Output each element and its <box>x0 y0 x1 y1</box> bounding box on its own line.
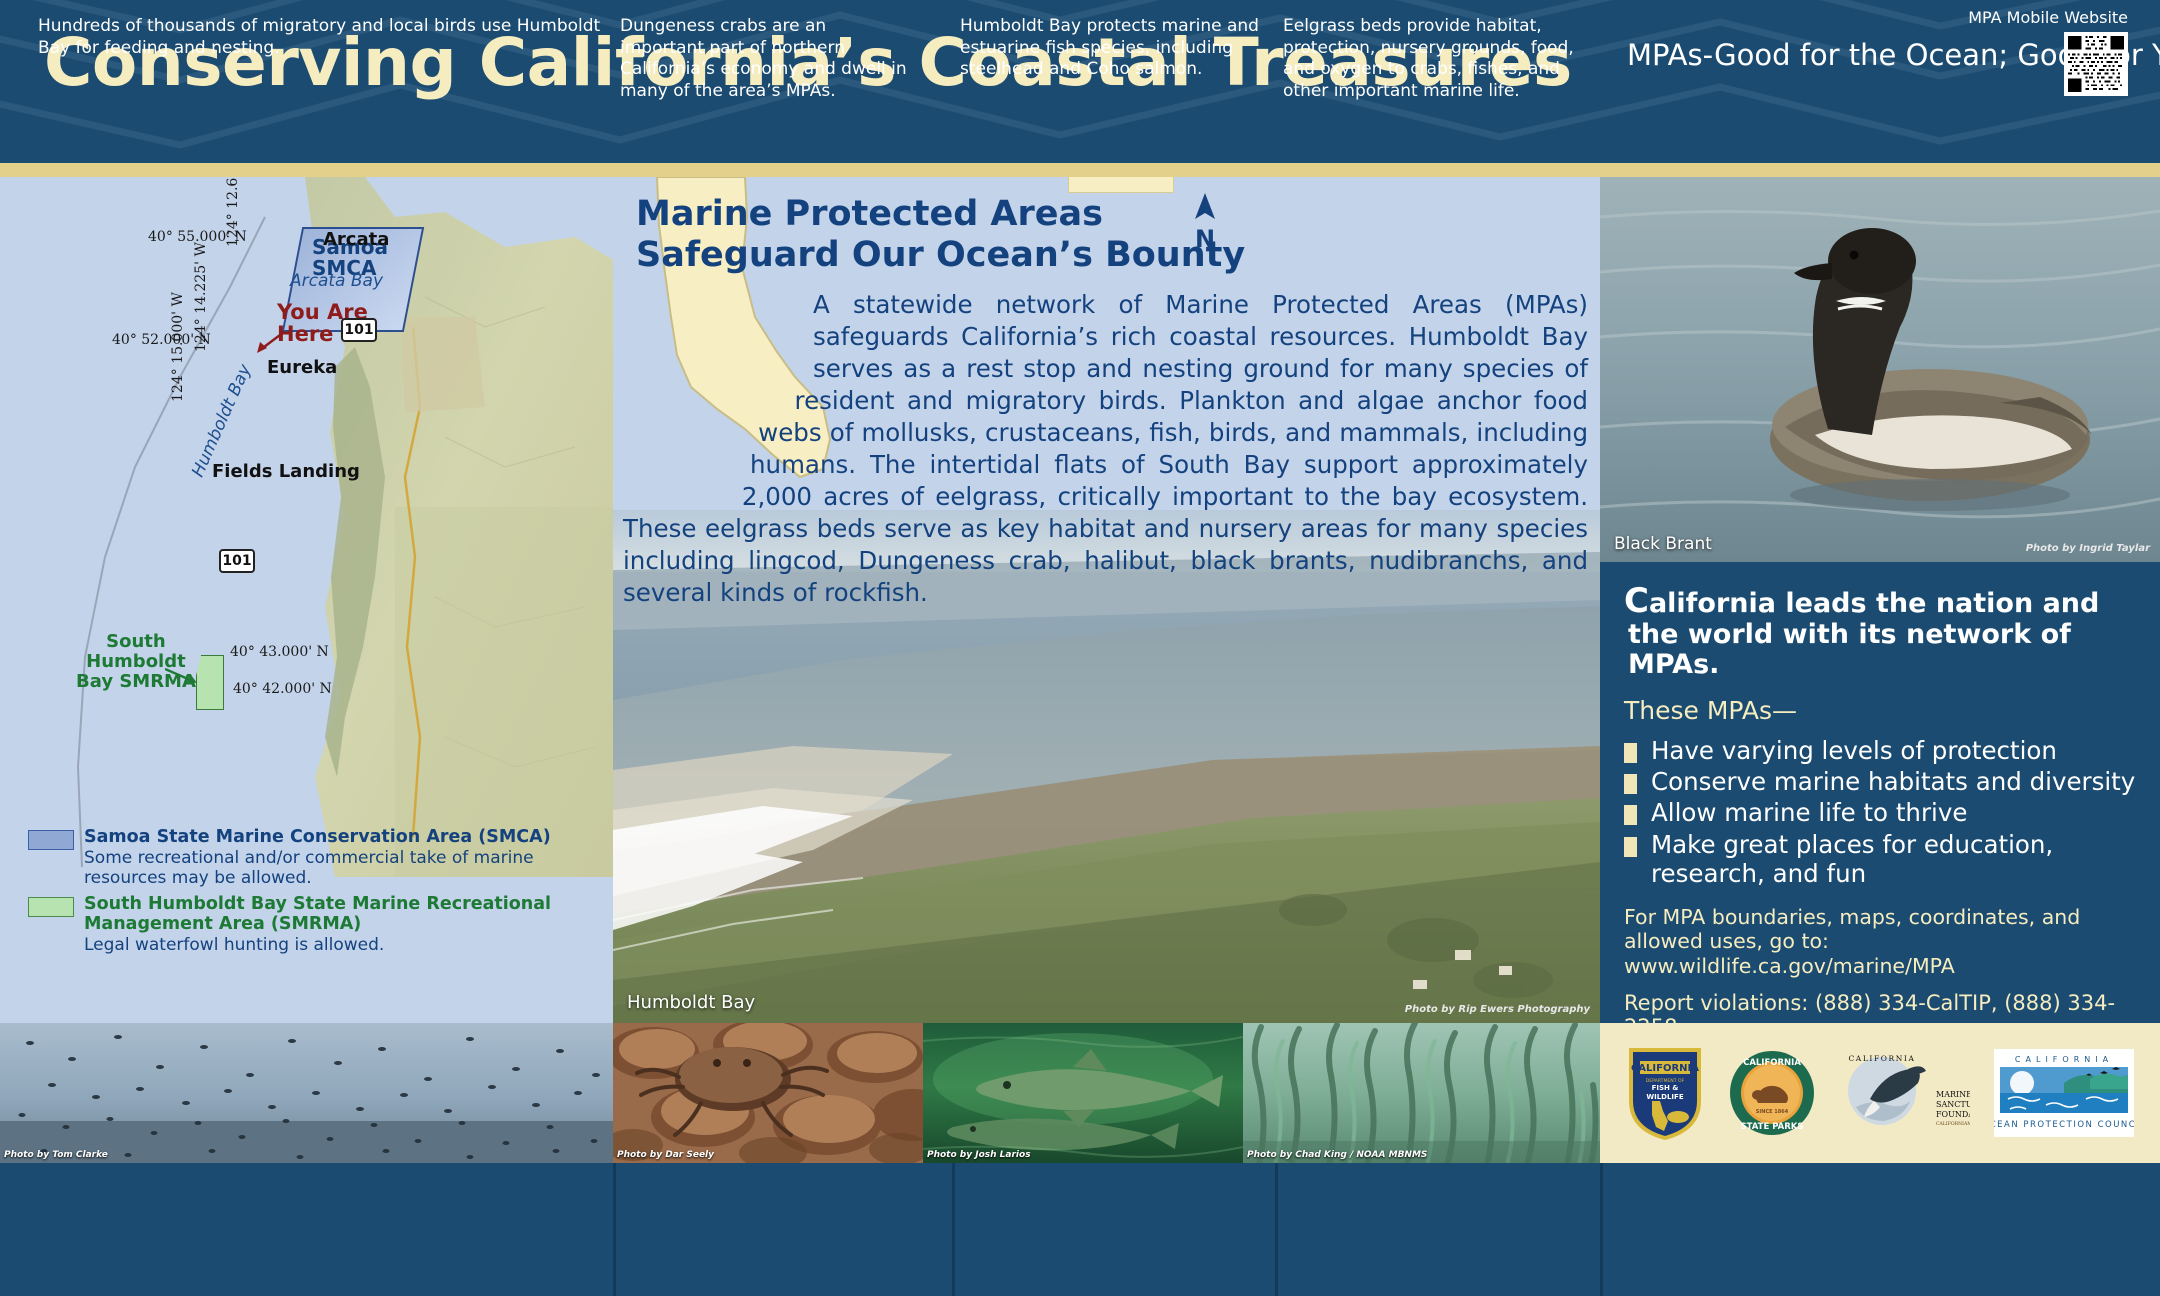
coord-label-40-43: 40° 43.000' N <box>230 644 329 660</box>
brant-photo-credit: Photo by Ingrid Taylar <box>2026 543 2150 554</box>
caption-divider <box>952 1163 955 1296</box>
heading-rest: alifornia leads the nation and the world… <box>1628 588 2099 680</box>
california-state-parks-logo: CALIFORNIA STATE PARKS SINCE 1864 <box>1728 1049 1816 1137</box>
bullet-square-icon <box>1624 805 1637 825</box>
legend-title-smrma: South Humboldt Bay State Marine Recreati… <box>84 894 603 935</box>
main-heading: Marine Protected Areas Safeguard Our Oce… <box>636 194 1245 276</box>
strip-photo-credit: Photo by Josh Larios <box>927 1150 1031 1160</box>
bullet-text: Make great places for education, researc… <box>1651 830 2138 889</box>
mpa-info-panel: California leads the nation and the worl… <box>1600 562 2160 1023</box>
map-legend: Samoa State Marine Conservation Area (SM… <box>28 827 603 961</box>
bay-photo-caption: Humboldt Bay <box>627 992 755 1013</box>
brant-photo-caption: Black Brant <box>1614 534 1712 554</box>
you-are-here-arrow <box>252 330 286 354</box>
city-label-eureka: Eureka <box>267 357 337 378</box>
south-humboldt-smrma-polygon[interactable] <box>196 655 224 710</box>
strip-photo-credit: Photo by Chad King / NOAA MBNMS <box>1247 1150 1427 1160</box>
caption-divider <box>1600 1163 1603 1296</box>
legend-sub-smca: Some recreational and/or commercial take… <box>84 848 603 888</box>
bullet-text: Conserve marine habitats and diversity <box>1651 767 2135 796</box>
legend-title-smca: Samoa State Marine Conservation Area (SM… <box>84 827 603 848</box>
svg-text:CALIFORNIA: CALIFORNIA <box>1631 1063 1699 1074</box>
salmon-underwater-photo: Photo by Josh Larios <box>923 1023 1243 1163</box>
coord-label-40-42: 40° 42.000' N <box>233 681 332 697</box>
city-label-arcata: Arcata <box>323 229 389 250</box>
california-fish-and-wildlife-logo: CALIFORNIA DEPARTMENT OF FISH & WILDLIFE <box>1626 1045 1704 1141</box>
svg-text:STATE PARKS: STATE PARKS <box>1740 1122 1803 1132</box>
mpa-benefits-list: Have varying levels of protection Conser… <box>1624 736 2138 889</box>
svg-text:CALIFORNIAMSF.ORG: CALIFORNIAMSF.ORG <box>1936 1121 1970 1127</box>
mpa-panel-heading: California leads the nation and the worl… <box>1624 582 2138 681</box>
svg-text:WILDLIFE: WILDLIFE <box>1646 1093 1683 1101</box>
caption-divider <box>1275 1163 1278 1296</box>
birds-flock-photo: Photo by Tom Clarke <box>0 1023 613 1163</box>
california-marine-sanctuary-foundation-logo: CALIFORNIA MARINE SANCTUARY FOUNDATION C… <box>1840 1047 1970 1139</box>
qr-code-label: MPA Mobile Website <box>1968 8 2128 27</box>
svg-text:MARINE: MARINE <box>1936 1090 1970 1099</box>
legend-item-smrma: South Humboldt Bay State Marine Recreati… <box>28 894 603 955</box>
city-label-fields-landing: Fields Landing <box>212 461 360 482</box>
svg-text:CALIFORNIA: CALIFORNIA <box>1743 1058 1801 1068</box>
main-body-text: A statewide network of Marine Protected … <box>623 289 1588 609</box>
caption-crabs: Dungeness crabs are an important part of… <box>620 16 910 102</box>
north-arrow-icon: N <box>1188 191 1222 253</box>
eelgrass-photo: Photo by Chad King / NOAA MBNMS <box>1243 1023 1600 1163</box>
svg-text:FOUNDATION: FOUNDATION <box>1936 1110 1970 1119</box>
smrma-pointer-arrow <box>165 667 199 685</box>
coord-label-124-12: 124° 12.677' W <box>225 177 241 247</box>
caption-divider <box>613 1163 616 1296</box>
bullet-square-icon <box>1624 774 1637 794</box>
list-item: Allow marine life to thrive <box>1624 798 2138 827</box>
bullet-text: Have varying levels of protection <box>1651 736 2057 765</box>
svg-text:N: N <box>1195 225 1215 253</box>
bullet-square-icon <box>1624 837 1637 857</box>
main-content-panel: Area Pictured N Marine Protected Areas S… <box>613 177 1600 1023</box>
area-pictured-callout: Area Pictured <box>1068 177 1174 193</box>
bullet-text: Allow marine life to thrive <box>1651 798 1967 827</box>
qr-code[interactable] <box>2064 32 2128 96</box>
bottom-caption-bar <box>0 1163 2160 1296</box>
list-item: Conserve marine habitats and diversity <box>1624 767 2138 796</box>
strip-photo-credit: Photo by Tom Clarke <box>4 1150 108 1160</box>
coord-label-124-15: 124° 15.000' W <box>170 292 186 402</box>
these-mpas-label: These MPAs— <box>1624 696 2138 725</box>
location-map[interactable]: Samoa SMCA South Humboldt Bay SMRMA 40° … <box>0 177 613 1023</box>
caption-birds: Hundreds of thousands of migratory and l… <box>38 16 608 59</box>
caption-eelgrass: Eelgrass beds provide habitat, protectio… <box>1283 16 1593 102</box>
coord-label-124-14: 124° 14.225' W <box>193 242 209 352</box>
list-item: Make great places for education, researc… <box>1624 830 2138 889</box>
svg-text:CALIFORNIA: CALIFORNIA <box>1848 1054 1915 1063</box>
svg-text:FISH &: FISH & <box>1652 1084 1679 1092</box>
water-label-arcata-bay: Arcata Bay <box>290 271 383 291</box>
california-ocean-protection-council-logo: CALIFORNIA OCEAN PROTECTION COUNCIL <box>1994 1049 2134 1137</box>
svg-text:OCEAN PROTECTION COUNCIL: OCEAN PROTECTION COUNCIL <box>1994 1120 2134 1130</box>
bay-photo-credit: Photo by Rip Ewers Photography <box>1405 1004 1590 1015</box>
strip-photo-credit: Photo by Dar Seely <box>617 1150 714 1160</box>
svg-text:SINCE 1864: SINCE 1864 <box>1756 1109 1789 1115</box>
dungeness-crab-photo: Photo by Dar Seely <box>613 1023 923 1163</box>
legend-sub-smrma: Legal waterfowl hunting is allowed. <box>84 935 603 955</box>
agency-logo-band: CALIFORNIA DEPARTMENT OF FISH & WILDLIFE… <box>1600 1023 2160 1163</box>
list-item: Have varying levels of protection <box>1624 736 2138 765</box>
legend-swatch-smrma <box>28 897 74 917</box>
svg-text:CALIFORNIA: CALIFORNIA <box>2015 1055 2113 1064</box>
heading-dropcap: C <box>1624 581 1649 621</box>
legend-item-smca: Samoa State Marine Conservation Area (SM… <box>28 827 603 888</box>
highway-shield-101-north: 101 <box>341 318 377 342</box>
caption-fish: Humboldt Bay protects marine and estuari… <box>960 16 1260 81</box>
highway-shield-101-south: 101 <box>219 549 255 573</box>
svg-text:SANCTUARY: SANCTUARY <box>1936 1100 1970 1109</box>
gold-divider-rule <box>0 163 2160 177</box>
bullet-square-icon <box>1624 743 1637 763</box>
black-brant-photo: Black Brant Photo by Ingrid Taylar <box>1600 177 2160 562</box>
legend-swatch-smca <box>28 830 74 850</box>
mpa-website-info: For MPA boundaries, maps, coordinates, a… <box>1624 905 2138 979</box>
